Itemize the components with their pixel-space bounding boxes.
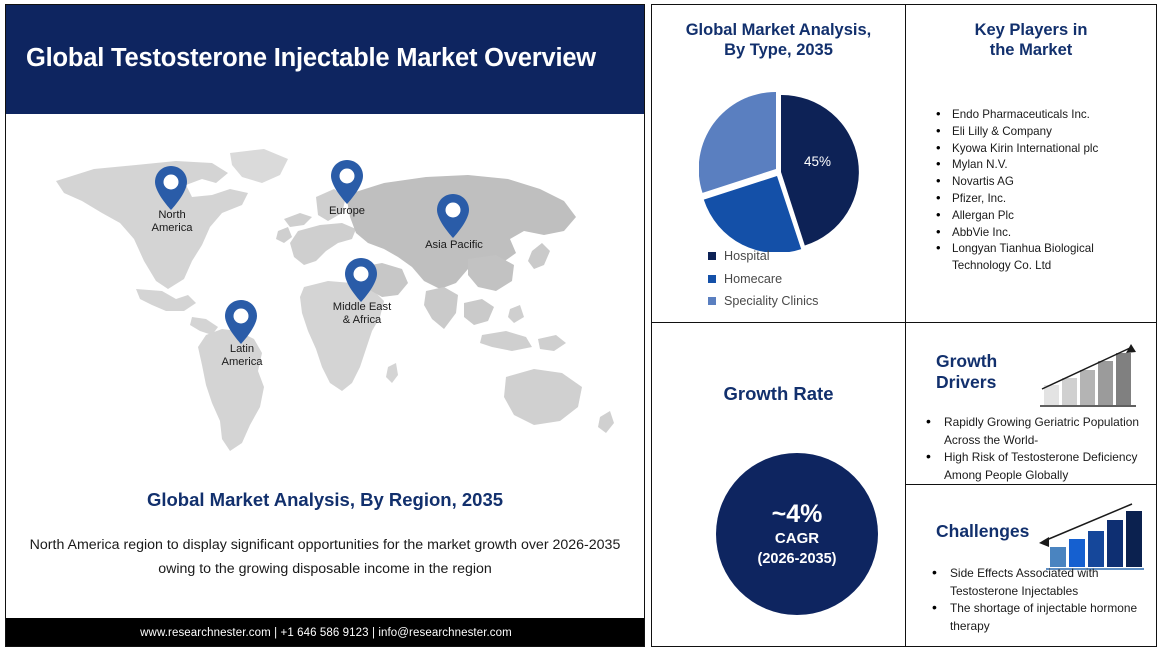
- map-pin-label-north-america: NorthAmerica: [127, 209, 217, 234]
- list-item: Mylan N.V.: [930, 157, 1150, 174]
- legend-swatch-icon-hospital: [708, 252, 716, 260]
- world-map-container: NorthAmerica Europe Asia Pacific LatinAm…: [6, 117, 644, 482]
- map-pin-label-latin-america: LatinAmerica: [197, 343, 287, 368]
- legend-swatch-icon-speciality-clinics: [708, 297, 716, 305]
- pie-slice-hospital[interactable]: [781, 95, 859, 246]
- footer-bar: www.researchnester.com | +1 646 586 9123…: [5, 618, 645, 647]
- pie-slice-speciality-clinics[interactable]: [699, 92, 776, 193]
- key-players-panel: Key Players in the Market Endo Pharmaceu…: [905, 4, 1157, 323]
- map-pin-latin-america[interactable]: [224, 299, 258, 345]
- legend-item-hospital[interactable]: Hospital: [708, 249, 818, 263]
- list-item: Endo Pharmaceuticals Inc.: [930, 107, 1150, 124]
- list-item: Rapidly Growing Geriatric Population Acr…: [918, 414, 1156, 449]
- market-by-type-title-line2: By Type, 2035: [724, 41, 833, 59]
- growth-rate-panel: Growth Rate ~4% CAGR (2026-2035): [651, 322, 906, 647]
- map-pin-label-asia-pacific: Asia Pacific: [406, 239, 502, 252]
- header-bar: Global Testosterone Injectable Market Ov…: [5, 4, 645, 114]
- challenges-title: Challenges: [936, 521, 1046, 542]
- legend-label-homecare: Homecare: [724, 272, 782, 286]
- growth-rate-period: (2026-2035): [758, 551, 837, 567]
- market-by-type-panel: Global Market Analysis, By Type, 2035 45…: [651, 4, 906, 323]
- growth-drivers-panel: GrowthDrivers Rapidly Growing Geriatric …: [905, 322, 1157, 485]
- list-item: The shortage of injectable hormone thera…: [924, 600, 1156, 635]
- growth-rate-metric: CAGR: [775, 530, 819, 547]
- map-pin-asia-pacific[interactable]: [436, 193, 470, 239]
- map-pin-middle-east-africa[interactable]: [344, 257, 378, 303]
- list-item: Novartis AG: [930, 174, 1150, 191]
- key-players-title: Key Players in the Market: [906, 21, 1156, 61]
- growth-drivers-title: GrowthDrivers: [936, 351, 1046, 393]
- list-item: Longyan Tianhua Biological Technology Co…: [930, 241, 1150, 275]
- market-by-type-title-line1: Global Market Analysis,: [686, 21, 872, 39]
- challenges-bar-chart-icon: [1036, 501, 1144, 573]
- footer-contact-text: www.researchnester.com | +1 646 586 9123…: [140, 627, 512, 639]
- market-by-type-pie-chart: 45%: [699, 92, 859, 252]
- map-pin-label-middle-east-africa: Middle East& Africa: [314, 301, 410, 326]
- growth-rate-value: ~4%: [772, 501, 823, 527]
- legend-item-homecare[interactable]: Homecare: [708, 272, 818, 286]
- list-item: Side Effects Associated with Testosteron…: [924, 565, 1156, 600]
- list-item: Pfizer, Inc.: [930, 191, 1150, 208]
- legend-item-speciality-clinics[interactable]: Speciality Clinics: [708, 294, 818, 308]
- legend-label-speciality-clinics: Speciality Clinics: [724, 294, 818, 308]
- map-pin-north-america[interactable]: [154, 165, 188, 211]
- pie-label-hospital-percent: 45%: [804, 154, 831, 169]
- legend-label-hospital: Hospital: [724, 249, 770, 263]
- challenges-list: Side Effects Associated with Testosteron…: [924, 565, 1156, 635]
- challenges-panel: Challenges Side Effects Associated with …: [905, 484, 1157, 647]
- list-item: Allergan Plc: [930, 208, 1150, 225]
- map-pin-europe[interactable]: [330, 159, 364, 205]
- page-title: Global Testosterone Injectable Market Ov…: [26, 44, 596, 73]
- growth-rate-title: Growth Rate: [652, 383, 905, 405]
- list-item: Eli Lilly & Company: [930, 124, 1150, 141]
- growth-drivers-bar-chart-icon: [1036, 339, 1144, 411]
- infographic-root: Global Testosterone Injectable Market Ov…: [0, 0, 1161, 651]
- pie-svg: [699, 92, 859, 252]
- map-pin-label-europe: Europe: [304, 205, 390, 218]
- growth-drivers-list: Rapidly Growing Geriatric Population Acr…: [918, 414, 1156, 484]
- list-item: High Risk of Testosterone Deficiency Amo…: [918, 449, 1156, 484]
- list-item: AbbVie Inc.: [930, 225, 1150, 242]
- key-players-title-line1: Key Players in: [975, 21, 1088, 39]
- growth-rate-circle: ~4% CAGR (2026-2035): [716, 453, 878, 615]
- region-analysis-title: Global Market Analysis, By Region, 2035: [6, 489, 644, 511]
- key-players-title-line2: the Market: [990, 41, 1073, 59]
- legend-swatch-icon-homecare: [708, 275, 716, 283]
- list-item: Kyowa Kirin International plc: [930, 141, 1150, 158]
- key-players-list: Endo Pharmaceuticals Inc. Eli Lilly & Co…: [930, 107, 1150, 275]
- region-analysis-description: North America region to display signific…: [28, 533, 622, 581]
- left-panel: Global Testosterone Injectable Market Ov…: [5, 4, 645, 647]
- pie-legend: Hospital Homecare Speciality Clinics: [708, 249, 818, 317]
- market-by-type-title: Global Market Analysis, By Type, 2035: [652, 21, 905, 61]
